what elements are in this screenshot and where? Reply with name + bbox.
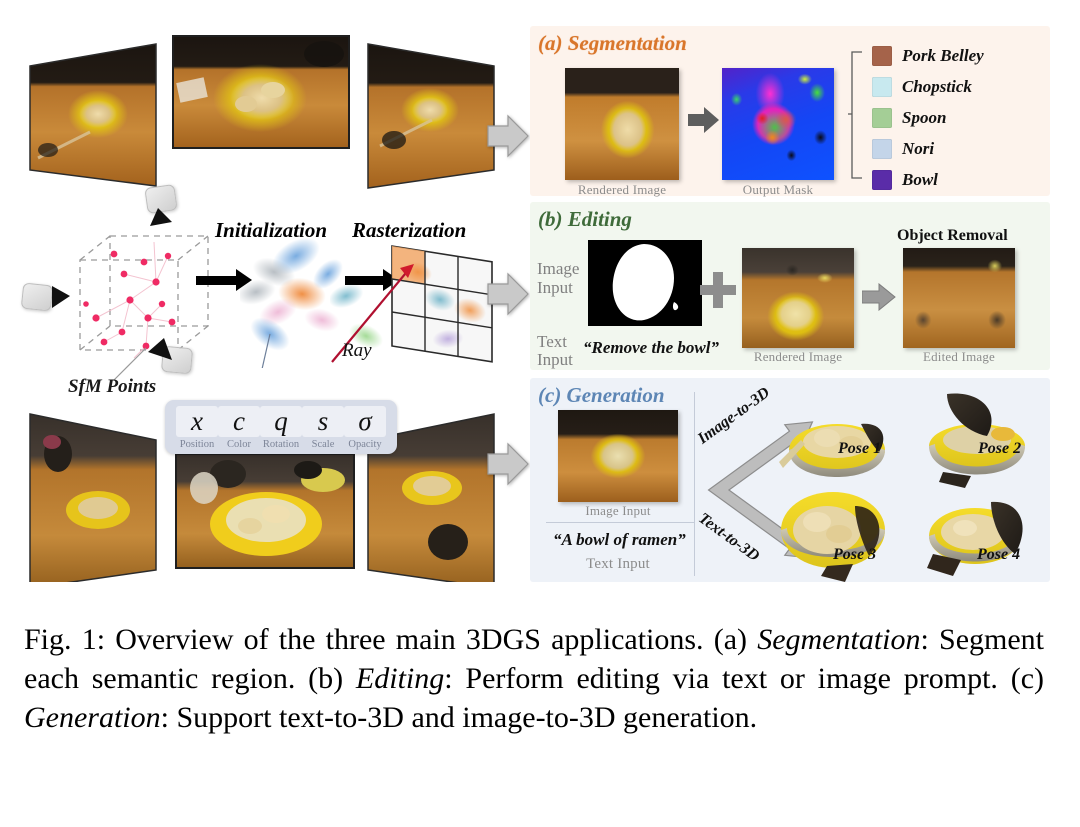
camera-cone-bottom bbox=[142, 334, 180, 368]
pose-4-label: Pose 4 bbox=[977, 546, 1020, 564]
segmentation-legend: Pork Belley Chopstick Spoon Nori Bowl bbox=[872, 40, 1042, 195]
param-position: x Position bbox=[176, 406, 218, 450]
legend-label-nori: Nori bbox=[902, 139, 934, 159]
editing-plus-icon bbox=[700, 272, 736, 308]
figure-caption: Fig. 1: Overview of the three main 3DGS … bbox=[24, 620, 1044, 737]
param-name: Rotation bbox=[260, 439, 302, 450]
camera-view-right bbox=[368, 44, 494, 188]
connector-arrow-editing bbox=[486, 270, 530, 318]
param-name: Color bbox=[218, 439, 260, 450]
caption-italic-generation: Generation bbox=[24, 701, 161, 734]
generation-image-input-label: Image Input bbox=[548, 503, 688, 519]
legend-swatch-pork-belley bbox=[872, 46, 892, 66]
editing-rendered-image-label: Rendered Image bbox=[732, 349, 864, 365]
param-name: Position bbox=[176, 439, 218, 450]
param-symbol: σ bbox=[344, 406, 386, 437]
connector-arrow-generation bbox=[486, 440, 530, 488]
editing-image-input-label-line2: Input bbox=[537, 278, 573, 298]
caption-part-3: : Perform editing via text or image prom… bbox=[444, 662, 1044, 695]
generation-image-input bbox=[558, 410, 678, 502]
generation-input-divider-horizontal bbox=[546, 522, 694, 523]
legend-label-spoon: Spoon bbox=[902, 108, 946, 128]
editing-image-input-label-line1: Image bbox=[537, 259, 579, 279]
connector-arrow-segmentation bbox=[486, 112, 530, 160]
segmentation-rendered-image-label: Rendered Image bbox=[555, 182, 689, 198]
camera-view-center bbox=[173, 36, 349, 148]
camera-view-left bbox=[30, 44, 156, 186]
pose-1-label: Pose 1 bbox=[838, 440, 881, 458]
legend-label-bowl: Bowl bbox=[902, 170, 938, 190]
param-symbol: s bbox=[302, 406, 344, 437]
param-symbol: x bbox=[176, 406, 218, 437]
segmentation-process-arrow bbox=[688, 105, 720, 135]
caption-part-1: Fig. 1: Overview of the three main 3DGS … bbox=[24, 623, 757, 656]
legend-swatch-spoon bbox=[872, 108, 892, 128]
camera-cone-top bbox=[140, 200, 180, 234]
segmentation-heading: (a) Segmentation bbox=[538, 31, 687, 56]
caption-part-4: : Support text-to-3D and image-to-3D gen… bbox=[161, 701, 758, 734]
param-symbol: q bbox=[260, 406, 302, 437]
legend-item-chopstick: Chopstick bbox=[872, 71, 1042, 102]
legend-label-chopstick: Chopstick bbox=[902, 77, 972, 97]
legend-swatch-bowl bbox=[872, 170, 892, 190]
editing-text-prompt: “Remove the bowl” bbox=[583, 338, 719, 358]
generation-text-input-label: Text Input bbox=[548, 556, 688, 573]
segmentation-rendered-image bbox=[565, 68, 679, 180]
editing-binary-mask bbox=[588, 240, 702, 326]
caption-italic-segmentation: Segmentation bbox=[757, 623, 920, 656]
arrow-to-initialization bbox=[196, 276, 238, 285]
legend-swatch-chopstick bbox=[872, 77, 892, 97]
pose-3-model bbox=[781, 492, 885, 582]
editing-object-removal-label: Object Removal bbox=[897, 227, 1008, 245]
legend-swatch-nori bbox=[872, 139, 892, 159]
legend-item-bowl: Bowl bbox=[872, 164, 1042, 195]
param-name: Scale bbox=[302, 439, 344, 450]
gaussian-parameters-panel: x Position c Color q Rotation s Scale σ … bbox=[165, 400, 397, 454]
legend-label-pork-belley: Pork Belley bbox=[902, 46, 984, 66]
pose-2-label: Pose 2 bbox=[978, 440, 1021, 458]
param-opacity: σ Opacity bbox=[344, 406, 386, 450]
figure-canvas: SfM Points Initialization Rasterization bbox=[0, 0, 1080, 600]
param-scale: s Scale bbox=[302, 406, 344, 450]
param-symbol: c bbox=[218, 406, 260, 437]
camera-cone-left bbox=[48, 282, 84, 314]
legend-item-spoon: Spoon bbox=[872, 102, 1042, 133]
pose-4-model bbox=[927, 502, 1023, 576]
legend-bracket bbox=[848, 50, 866, 182]
generation-input-divider-vertical bbox=[694, 392, 695, 576]
sfm-points-label: SfM Points bbox=[68, 376, 156, 398]
generation-heading: (c) Generation bbox=[538, 383, 665, 408]
ray-label: Ray bbox=[342, 340, 372, 362]
pose-3-label: Pose 3 bbox=[833, 546, 876, 564]
input-views-top bbox=[28, 28, 498, 208]
param-rotation: q Rotation bbox=[260, 406, 302, 450]
editing-edited-image-label: Edited Image bbox=[893, 349, 1025, 365]
editing-process-arrow bbox=[862, 283, 896, 311]
camera-view-bottom-center bbox=[176, 454, 354, 568]
editing-rendered-image bbox=[742, 248, 854, 348]
legend-item-nori: Nori bbox=[872, 133, 1042, 164]
param-name: Opacity bbox=[344, 439, 386, 450]
editing-heading: (b) Editing bbox=[538, 207, 632, 232]
legend-item-pork-belley: Pork Belley bbox=[872, 40, 1042, 71]
segmentation-output-mask-label: Output Mask bbox=[712, 182, 844, 198]
editing-edited-image bbox=[903, 248, 1015, 348]
segmentation-output-mask bbox=[722, 68, 834, 180]
camera-view-bottom-left bbox=[30, 414, 156, 582]
param-color: c Color bbox=[218, 406, 260, 450]
generation-text-prompt: “A bowl of ramen” bbox=[553, 530, 686, 550]
editing-text-input-label-line2: Input bbox=[537, 350, 573, 370]
editing-text-input-label-line1: Text bbox=[537, 332, 567, 352]
caption-italic-editing: Editing bbox=[356, 662, 444, 695]
